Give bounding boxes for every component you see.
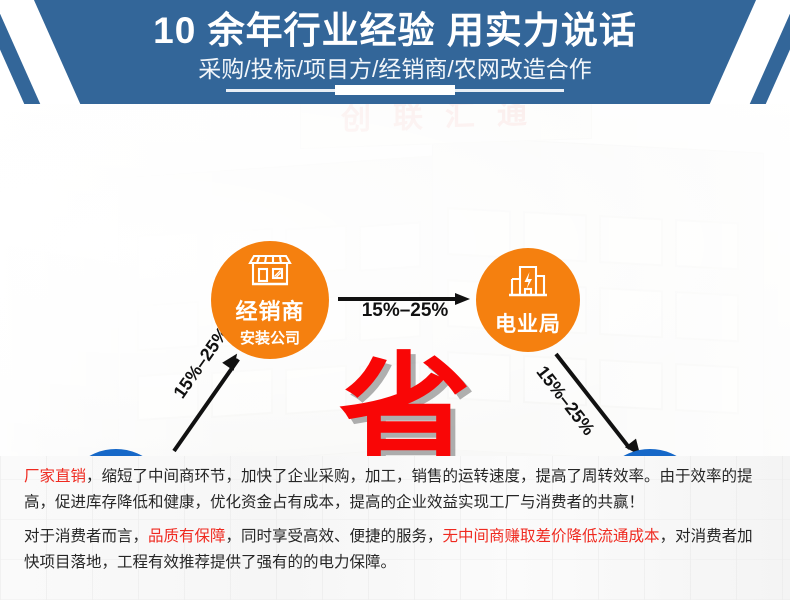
- store-icon: [247, 253, 293, 292]
- arrow-label-dealer-to-bureau: 15%–25%: [345, 300, 465, 322]
- footer-p2-highlight-1: 品质有保障: [148, 528, 226, 545]
- node-bureau-label: 电业局: [495, 308, 561, 338]
- footer-p2-middle: ，同时享受高效、便捷的服务，: [226, 528, 443, 545]
- header-divider-accent: [335, 85, 455, 95]
- node-dealer-sublabel: 安装公司: [240, 327, 300, 348]
- header-title: 10 余年行业经验 用实力说话: [0, 9, 790, 53]
- header-subtitle: 采购/投标/项目方/经销商/农网改造合作: [0, 55, 790, 83]
- center-character: 省: [330, 351, 480, 456]
- footer-p1-rest: ，缩短了中间商环节，加快了企业采购，加工，销售的运转速度，提高了周转效率。由于效…: [24, 468, 753, 511]
- node-dealer-label: 经销商: [235, 294, 304, 326]
- banner-header: 10 余年行业经验 用实力说话 采购/投标/项目方/经销商/农网改造合作: [0, 0, 790, 104]
- footer-description: 厂家直销，缩短了中间商环节，加快了企业采购，加工，销售的运转速度，提高了周转效率…: [0, 456, 790, 600]
- footer-paragraph-1: 厂家直销，缩短了中间商环节，加快了企业采购，加工，销售的运转速度，提高了周转效率…: [24, 464, 766, 516]
- diagram-stage: 创联汇通 省 15%–25% 15%–25% 15%–25% 在这里省了中间环节…: [0, 104, 790, 456]
- footer-paragraph-2: 对于消费者而言，品质有保障，同时享受高效、便捷的服务，无中间商赚取差价降低流通成…: [24, 524, 766, 576]
- footer-p2-highlight-2: 无中间商赚取差价降低流通成本: [443, 528, 660, 545]
- footer-p2-lead: 对于消费者而言，: [24, 528, 148, 545]
- node-dealer[interactable]: 经销商 安装公司: [211, 241, 329, 359]
- node-bureau[interactable]: 电业局: [476, 248, 580, 352]
- power-building-icon: [506, 262, 550, 305]
- promo-banner: 10 余年行业经验 用实力说话 采购/投标/项目方/经销商/农网改造合作: [0, 0, 790, 600]
- footer-p1-highlight: 厂家直销: [24, 468, 86, 485]
